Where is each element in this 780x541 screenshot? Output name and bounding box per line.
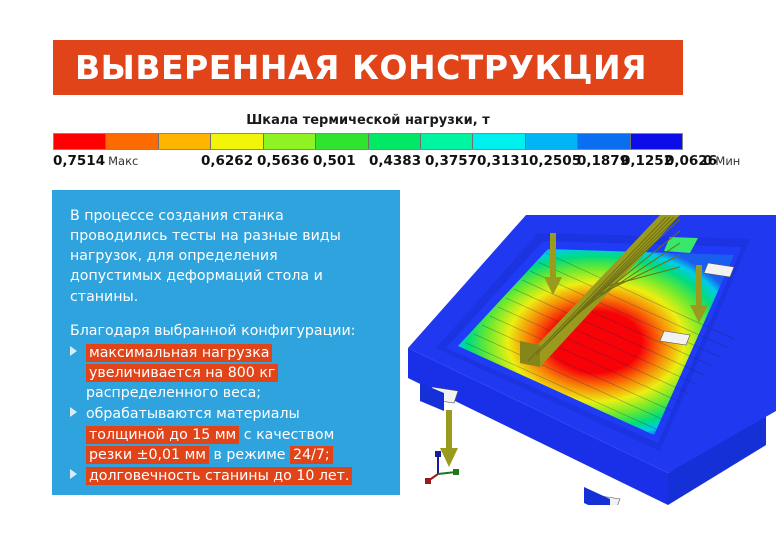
- highlight-text: увеличивается на 800 кг: [86, 364, 278, 382]
- panel-bullet-list: максимальная нагрузка увеличивается на 8…: [70, 343, 386, 486]
- color-scale-tick-11: 0Мин: [703, 153, 740, 169]
- coordinate-axes-triad: [422, 448, 462, 486]
- list-item: максимальная нагрузка увеличивается на 8…: [70, 343, 386, 403]
- color-scale-tick-0: 0,7514Макс: [53, 153, 138, 169]
- plain-text: распределенного веса;: [86, 383, 386, 403]
- color-scale-segment-2: [159, 134, 211, 149]
- panel-paragraph: В процессе создания станка проводились т…: [70, 206, 370, 307]
- color-scale-segment-10: [578, 134, 630, 149]
- color-scale-segment-9: [526, 134, 578, 149]
- info-panel: В процессе создания станка проводились т…: [52, 190, 400, 495]
- title-banner: ВЫВЕРЕННАЯ КОНСТРУКЦИЯ: [53, 40, 683, 95]
- triangle-bullet-icon: [70, 469, 77, 479]
- color-scale-tick-4: 0,4383: [369, 153, 421, 169]
- color-scale-segment-4: [264, 134, 316, 149]
- highlight-text: долговечность станины до 10 лет.: [86, 467, 352, 485]
- plain-text: обрабатываются материалы: [86, 404, 386, 424]
- highlight-text: резки ±0,01 мм: [86, 446, 209, 464]
- color-scale-tick-1: 0,6262: [201, 153, 253, 169]
- color-scale-tick-3: 0,501: [313, 153, 356, 169]
- color-scale-segment-7: [421, 134, 473, 149]
- color-scale-segment-3: [211, 134, 263, 149]
- color-scale-segment-6: [369, 134, 421, 149]
- slide-root: ВЫВЕРЕННАЯ КОНСТРУКЦИЯ Шкала термической…: [0, 0, 780, 541]
- plain-text: в режиме: [209, 447, 290, 463]
- scale-max-label: Макс: [108, 154, 138, 168]
- list-item: долговечность станины до 10 лет.: [70, 466, 386, 486]
- color-scale-segment-5: [316, 134, 368, 149]
- highlight-text: толщиной до 15 мм: [86, 426, 239, 444]
- color-scale-segment-1: [106, 134, 158, 149]
- highlight-text: 24/7;: [290, 446, 333, 464]
- color-scale-segment-11: [631, 134, 682, 149]
- triangle-bullet-icon: [70, 346, 77, 356]
- triangle-bullet-icon: [70, 407, 77, 417]
- scale-min-label: Мин: [715, 154, 740, 168]
- color-scale-tick-5: 0,3757: [425, 153, 477, 169]
- color-scale-segment-8: [473, 134, 525, 149]
- plain-text: с качеством: [239, 427, 334, 443]
- page-title: ВЫВЕРЕННАЯ КОНСТРУКЦИЯ: [53, 48, 647, 87]
- color-scale-bar: [53, 133, 683, 150]
- color-scale-caption: Шкала термической нагрузки, т: [53, 113, 683, 128]
- color-scale-segment-0: [54, 134, 106, 149]
- color-scale-tick-7: 0,2505: [529, 153, 581, 169]
- panel-lead-in: Благодаря выбранной конфигурации:: [70, 321, 386, 341]
- color-scale-tick-2: 0,5636: [257, 153, 309, 169]
- color-scale-ticks: 0,7514Макс0,62620,56360,5010,43830,37570…: [53, 153, 699, 173]
- color-scale-tick-6: 0,3131: [477, 153, 529, 169]
- color-scale-legend: Шкала термической нагрузки, т 0,7514Макс…: [53, 113, 699, 173]
- list-item: обрабатываются материалы толщиной до 15 …: [70, 404, 386, 464]
- highlight-text: максимальная нагрузка: [86, 344, 272, 362]
